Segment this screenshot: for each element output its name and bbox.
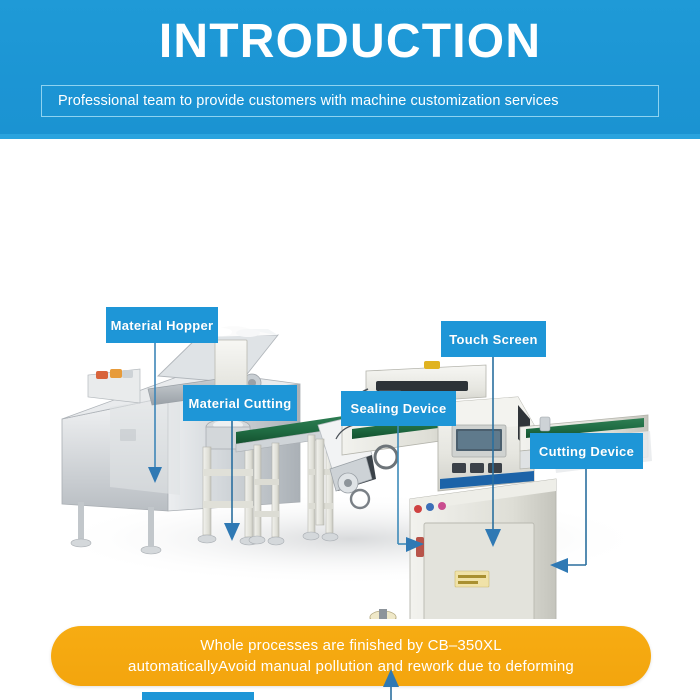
callout-material-cutting[interactable]: Material Cutting [183, 385, 297, 421]
footer-banner: Whole processes are finished by CB–350XL… [51, 626, 651, 686]
callout-material-hopper[interactable]: Material Hopper [106, 307, 218, 343]
callout-cutting-device[interactable]: Cutting Device [530, 433, 643, 469]
machine-diagram: Material Hopper Material Cutting Sealing… [0, 139, 700, 619]
introduction-page: INTRODUCTION Professional team to provid… [0, 0, 700, 700]
page-header: INTRODUCTION Professional team to provid… [0, 0, 700, 134]
footer-line-2: automaticallyAvoid manual pollution and … [128, 656, 574, 677]
footer-line-1: Whole processes are finished by CB–350XL [200, 635, 502, 656]
callout-sealing-device[interactable]: Sealing Device [341, 391, 456, 426]
packaging-machine-photo [0, 139, 700, 619]
callout-touch-screen[interactable]: Touch Screen [441, 321, 546, 357]
subtitle-box: Professional team to provide customers w… [41, 85, 659, 117]
callout-film-roll-frame[interactable]: Film Roll Frame [142, 692, 254, 700]
page-subtitle: Professional team to provide customers w… [58, 92, 559, 110]
page-title: INTRODUCTION [0, 13, 700, 71]
